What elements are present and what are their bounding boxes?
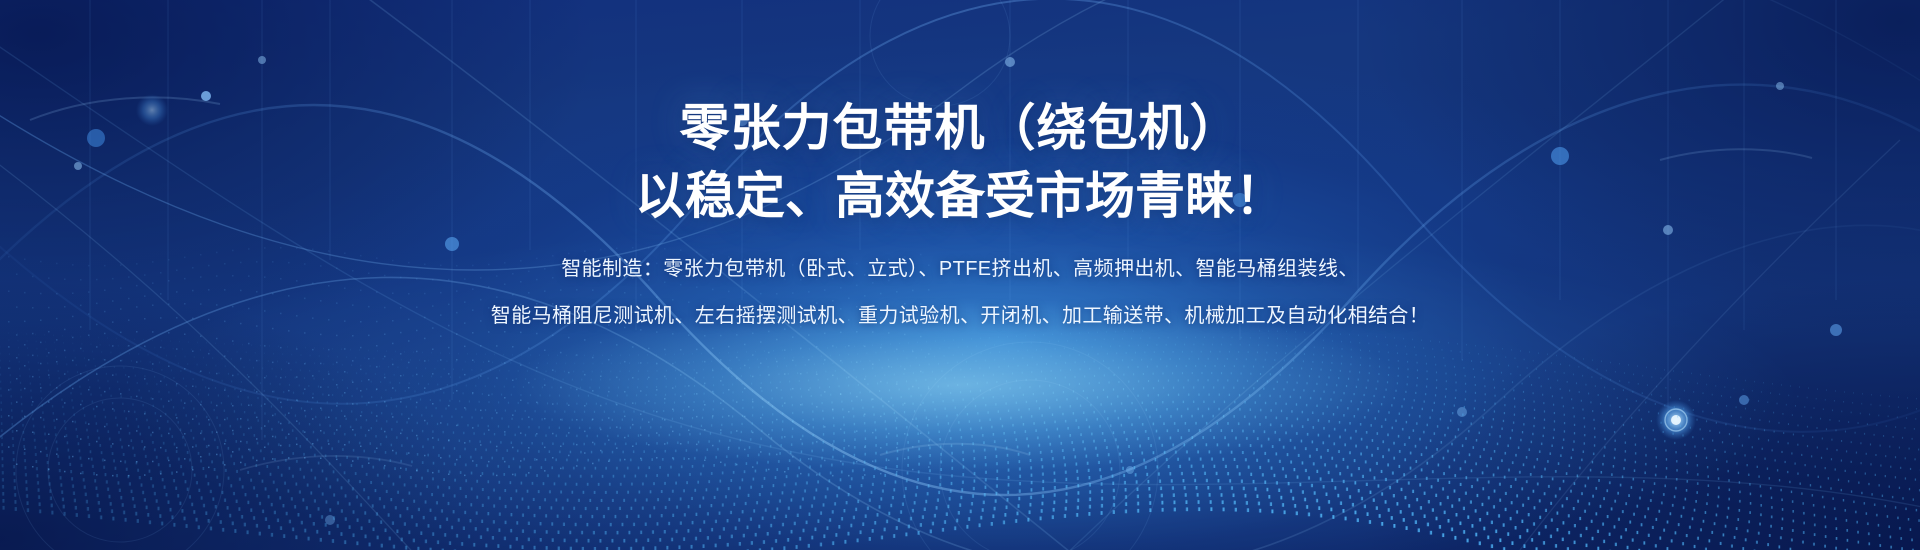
- banner-subtitle: 智能制造：零张力包带机（卧式、立式）、PTFE挤出机、高频押出机、智能马桶组装线…: [491, 254, 1429, 332]
- banner-title-line-1: 零张力包带机（绕包机）: [680, 96, 1241, 160]
- banner-content: 零张力包带机（绕包机） 以稳定、高效备受市场青睐！ 智能制造：零张力包带机（卧式…: [0, 0, 1920, 550]
- banner-subtitle-line-1: 智能制造：零张力包带机（卧式、立式）、PTFE挤出机、高频押出机、智能马桶组装线…: [491, 254, 1429, 285]
- hero-banner: 零张力包带机（绕包机） 以稳定、高效备受市场青睐！ 智能制造：零张力包带机（卧式…: [0, 0, 1920, 550]
- banner-title-line-2: 以稳定、高效备受市场青睐！: [635, 164, 1285, 228]
- banner-subtitle-line-2: 智能马桶阻尼测试机、左右摇摆测试机、重力试验机、开闭机、加工输送带、机械加工及自…: [491, 301, 1429, 332]
